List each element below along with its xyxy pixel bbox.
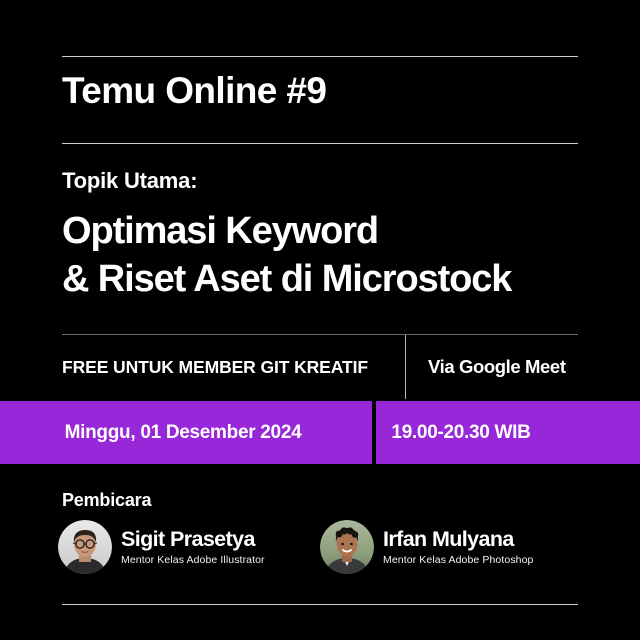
- speaker-photo-irfan: [320, 520, 374, 574]
- schedule-time: 19.00-20.30 WIB: [391, 422, 530, 444]
- topic-line-2: & Riset Aset di Microstock: [62, 256, 511, 304]
- topic-kicker: Topik Utama:: [62, 168, 197, 194]
- page-title: Temu Online #9: [62, 72, 326, 109]
- platform-text: Via Google Meet: [428, 356, 566, 378]
- schedule-date-cell: Minggu, 01 Desember 2024: [0, 401, 372, 464]
- speaker-item: Irfan Mulyana Mentor Kelas Adobe Photosh…: [320, 520, 534, 574]
- speaker-name: Irfan Mulyana: [383, 528, 534, 552]
- schedule-time-cell: 19.00-20.30 WIB: [376, 401, 640, 464]
- speaker-item: Sigit Prasetya Mentor Kelas Adobe Illust…: [58, 520, 265, 574]
- schedule-date: Minggu, 01 Desember 2024: [65, 422, 302, 444]
- divider-bottom: [62, 604, 578, 605]
- event-poster: Temu Online #9 Topik Utama: Optimasi Key…: [0, 0, 640, 640]
- info-cell-platform: Via Google Meet: [405, 335, 578, 399]
- info-row: FREE UNTUK MEMBER GIT KREATIF Via Google…: [62, 335, 578, 399]
- info-vertical-divider: [405, 335, 406, 399]
- speakers-label: Pembicara: [62, 490, 151, 511]
- speaker-photo-sigit: [58, 520, 112, 574]
- divider-top: [62, 56, 578, 57]
- price-text: FREE UNTUK MEMBER GIT KREATIF: [62, 357, 368, 378]
- topic-heading: Optimasi Keyword & Riset Aset di Microst…: [62, 208, 511, 303]
- speaker-meta: Irfan Mulyana Mentor Kelas Adobe Photosh…: [383, 528, 534, 567]
- schedule-band: Minggu, 01 Desember 2024 19.00-20.30 WIB: [0, 401, 640, 464]
- divider-under-title: [62, 143, 578, 144]
- speaker-meta: Sigit Prasetya Mentor Kelas Adobe Illust…: [121, 528, 265, 567]
- topic-line-1: Optimasi Keyword: [62, 208, 511, 256]
- speaker-role: Mentor Kelas Adobe Illustrator: [121, 554, 265, 566]
- speaker-name: Sigit Prasetya: [121, 528, 265, 552]
- speaker-role: Mentor Kelas Adobe Photoshop: [383, 554, 534, 566]
- info-cell-price: FREE UNTUK MEMBER GIT KREATIF: [62, 335, 405, 399]
